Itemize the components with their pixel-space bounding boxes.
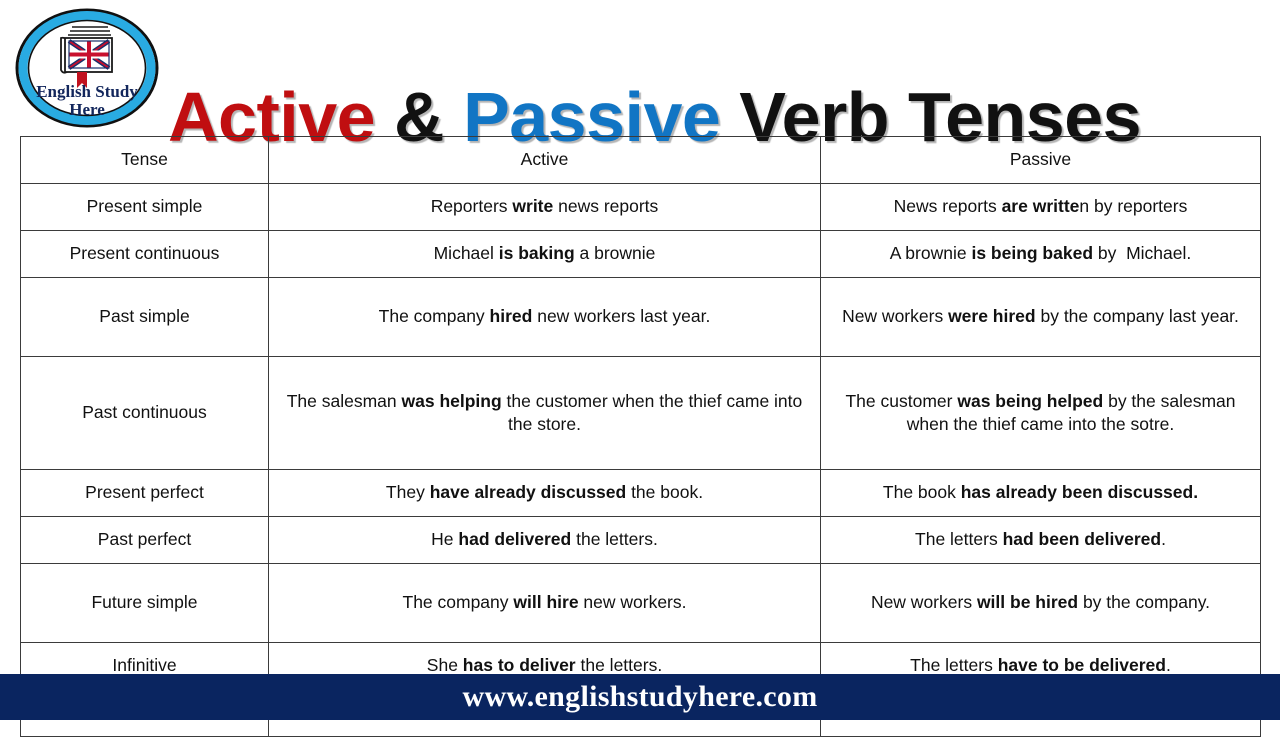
tense-comparison-table: Tense Active Passive Present simpleRepor… bbox=[20, 136, 1261, 737]
column-header-tense: Tense bbox=[21, 137, 269, 184]
site-footer: www.englishstudyhere.com bbox=[0, 674, 1280, 720]
table-row: Past perfectHe had delivered the letters… bbox=[21, 517, 1261, 564]
table-row: Past simpleThe company hired new workers… bbox=[21, 278, 1261, 357]
passive-sentence: The customer was being helped by the sal… bbox=[821, 357, 1261, 470]
tense-label: Present simple bbox=[21, 184, 269, 231]
table-row: Present continuousMichael is baking a br… bbox=[21, 231, 1261, 278]
tense-label: Future simple bbox=[21, 564, 269, 643]
table-row: Past continuousThe salesman was helping … bbox=[21, 357, 1261, 470]
column-header-passive: Passive bbox=[821, 137, 1261, 184]
passive-sentence: A brownie is being baked by Michael. bbox=[821, 231, 1261, 278]
brand-logo: English Study Here bbox=[14, 8, 160, 128]
table-row: Present perfectThey have already discuss… bbox=[21, 470, 1261, 517]
tense-label: Present continuous bbox=[21, 231, 269, 278]
site-url: www.englishstudyhere.com bbox=[463, 680, 818, 714]
passive-sentence: New workers will be hired by the company… bbox=[821, 564, 1261, 643]
column-header-active: Active bbox=[269, 137, 821, 184]
table-body: Present simpleReporters write news repor… bbox=[21, 184, 1261, 737]
logo-line1: English Study bbox=[36, 82, 138, 101]
tense-label: Present perfect bbox=[21, 470, 269, 517]
tense-label: Past perfect bbox=[21, 517, 269, 564]
table-header-row: Tense Active Passive bbox=[21, 137, 1261, 184]
active-sentence: The company will hire new workers. bbox=[269, 564, 821, 643]
passive-sentence: New workers were hired by the company la… bbox=[821, 278, 1261, 357]
active-sentence: He had delivered the letters. bbox=[269, 517, 821, 564]
active-sentence: They have already discussed the book. bbox=[269, 470, 821, 517]
passive-sentence: The book has already been discussed. bbox=[821, 470, 1261, 517]
active-sentence: Reporters write news reports bbox=[269, 184, 821, 231]
tense-label: Past continuous bbox=[21, 357, 269, 470]
active-sentence: The salesman was helping the customer wh… bbox=[269, 357, 821, 470]
table-row: Future simpleThe company will hire new w… bbox=[21, 564, 1261, 643]
logo-line2: Here bbox=[69, 100, 105, 119]
passive-sentence: The letters had been delivered. bbox=[821, 517, 1261, 564]
tense-label: Past simple bbox=[21, 278, 269, 357]
active-sentence: Michael is baking a brownie bbox=[269, 231, 821, 278]
table-header: Tense Active Passive bbox=[21, 137, 1261, 184]
passive-sentence: News reports are written by reporters bbox=[821, 184, 1261, 231]
page-header: English Study Here Active & Passive Verb… bbox=[0, 0, 1280, 132]
table-row: Present simpleReporters write news repor… bbox=[21, 184, 1261, 231]
brand-logo-svg: English Study Here bbox=[14, 8, 160, 128]
active-sentence: The company hired new workers last year. bbox=[269, 278, 821, 357]
uk-flag-icon bbox=[69, 41, 109, 68]
